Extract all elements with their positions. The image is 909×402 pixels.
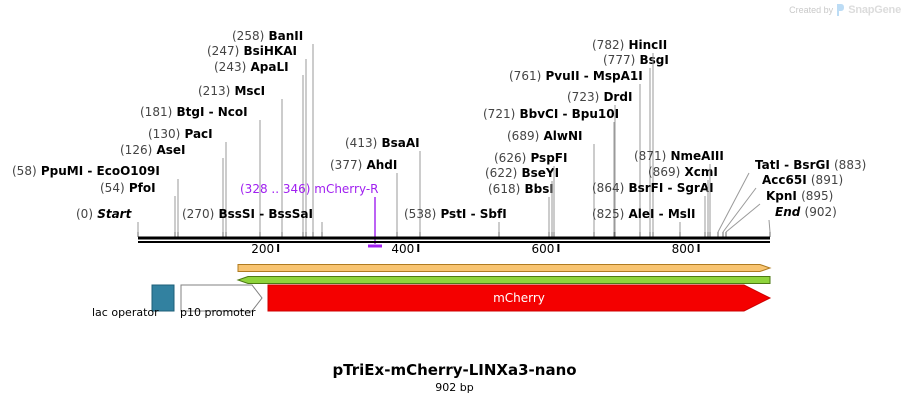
marker-name-bbsi: BbsI <box>524 182 553 196</box>
marker-position-bsrfi: (864) <box>592 181 624 195</box>
ruler-label-200: 200 <box>251 242 274 256</box>
marker-label-alei[interactable]: (825) AleI - MslI <box>592 207 696 221</box>
marker-name-bbvci: BbvCI <box>519 107 558 121</box>
marker-position-banii: (258) <box>232 29 264 43</box>
marker-label-ahdi[interactable]: (377) AhdI <box>330 158 397 172</box>
marker-name-alei: AleI <box>628 207 654 221</box>
marker-label-ppumi[interactable]: (58) PpuMI - EcoO109I <box>12 164 160 178</box>
marker-label-kpni[interactable]: KpnI (895) <box>766 189 833 203</box>
marker-label-end[interactable]: End (902) <box>775 205 837 219</box>
marker-label-bbsi[interactable]: (618) BbsI <box>488 182 554 196</box>
marker-label-bsihkai[interactable]: (247) BsiHKAI <box>207 44 297 58</box>
marker-label-msci[interactable]: (213) MscI <box>198 84 265 98</box>
marker-name-tati: BsrGI <box>793 158 830 172</box>
primer-name-mcherry-r: mCherry-R <box>314 182 378 196</box>
primer-label-mcherry-r[interactable]: (328 .. 346) mCherry-R <box>240 182 379 196</box>
ruler-label-800: 800 <box>672 242 695 256</box>
marker-position-bbsi: (618) <box>488 182 520 196</box>
marker-position-nmeaiii: (871) <box>634 149 666 163</box>
watermark-prefix: Created by <box>789 5 833 15</box>
marker-name-hincii: HincII <box>628 38 667 52</box>
feature-label-p10-promoter: p10 promoter <box>180 306 256 319</box>
marker-label-bsrfi[interactable]: (864) BsrFI - SgrAI <box>592 181 714 195</box>
marker-name-paci: PacI <box>184 127 212 141</box>
marker-label-bsaai[interactable]: (413) BsaAI <box>345 136 420 150</box>
marker-name-btgi: BtgI <box>176 105 204 119</box>
marker-name-psti: SbfI <box>480 207 507 221</box>
marker-label-acc65i[interactable]: Acc65I (891) <box>762 173 843 187</box>
snapgene-watermark: Created by SnapGene <box>789 4 901 16</box>
marker-label-nmeaiii[interactable]: (871) NmeAIII <box>634 149 724 163</box>
marker-name-kpni: KpnI <box>766 189 797 203</box>
marker-position-apali: (243) <box>214 60 246 74</box>
marker-position-pfoi: (54) <box>100 181 125 195</box>
marker-label-bseyi[interactable]: (622) BseYI <box>485 166 559 180</box>
plasmid-map: Created by SnapGene (0) Start(54) PfoI(5… <box>0 0 909 402</box>
marker-position-tati: (883) <box>834 158 866 172</box>
page-title: pTriEx-mCherry-LINXa3-nano <box>0 361 909 379</box>
marker-leader-line-acc65i <box>723 188 756 232</box>
marker-position-psti: (538) <box>404 207 436 221</box>
marker-name-pfoi: PfoI <box>129 181 156 195</box>
marker-position-bbvci: (721) <box>483 107 515 121</box>
marker-name-bsihkai: BsiHKAI <box>243 44 297 58</box>
feature-label-mcherry: mCherry <box>493 291 545 305</box>
marker-label-bsssi[interactable]: (270) BssSI - BssSaI <box>182 207 313 221</box>
marker-leader-line-end <box>769 220 770 232</box>
marker-label-hincii[interactable]: (782) HincII <box>592 38 667 52</box>
marker-position-acc65i: (891) <box>811 173 843 187</box>
marker-position-bsgi: (777) <box>603 53 635 67</box>
marker-label-pvuii[interactable]: (761) PvuII - MspA1I <box>509 69 643 83</box>
marker-label-paci[interactable]: (130) PacI <box>148 127 213 141</box>
marker-label-apali[interactable]: (243) ApaLI <box>214 60 289 74</box>
marker-label-banii[interactable]: (258) BanII <box>232 29 303 43</box>
marker-position-start: (0) <box>76 207 93 221</box>
marker-label-pfoi[interactable]: (54) PfoI <box>100 181 156 195</box>
marker-name-msci: MscI <box>234 84 265 98</box>
watermark-brand: SnapGene <box>848 4 901 16</box>
primer-range-mcherry-r: (328 .. 346) <box>240 182 314 196</box>
marker-label-asei[interactable]: (126) AseI <box>120 143 186 157</box>
marker-position-pvuii: (761) <box>509 69 541 83</box>
marker-label-psti[interactable]: (538) PstI - SbfI <box>404 207 507 221</box>
marker-name-pvuii: PvuII <box>545 69 579 83</box>
marker-position-kpni: (895) <box>801 189 833 203</box>
marker-name-tati: TatI <box>755 158 780 172</box>
marker-leader-line-tati <box>718 173 749 232</box>
marker-name-bseyi: BseYI <box>521 166 559 180</box>
marker-name-ppumi: EcoO109I <box>97 164 160 178</box>
marker-name-nmeaiii: NmeAIII <box>670 149 723 163</box>
marker-name-alwni: AlwNI <box>543 129 582 143</box>
feature-label-lac-operator: lac operator <box>92 306 159 319</box>
marker-label-tati[interactable]: TatI - BsrGI (883) <box>755 158 866 172</box>
marker-position-xcmi: (869) <box>648 165 680 179</box>
ruler-label-400: 400 <box>391 242 414 256</box>
marker-position-bsaai: (413) <box>345 136 377 150</box>
marker-label-drdi[interactable]: (723) DrdI <box>567 90 632 104</box>
marker-name-asei: AseI <box>156 143 185 157</box>
marker-position-bsssi: (270) <box>182 207 214 221</box>
marker-position-asei: (126) <box>120 143 152 157</box>
marker-position-pspfi: (626) <box>494 151 526 165</box>
marker-name-bsssi: BssSI <box>218 207 255 221</box>
marker-label-btgi[interactable]: (181) BtgI - NcoI <box>140 105 248 119</box>
marker-name-bsgi: BsgI <box>639 53 668 67</box>
marker-position-btgi: (181) <box>140 105 172 119</box>
marker-name-drdi: DrdI <box>603 90 632 104</box>
marker-label-bsgi[interactable]: (777) BsgI <box>603 53 669 67</box>
marker-name-psti: PstI <box>440 207 466 221</box>
map-canvas: (0) Start(54) PfoI(58) PpuMI - EcoO109I(… <box>0 0 909 402</box>
marker-name-end: End <box>775 205 801 219</box>
marker-name-pspfi: PspFI <box>530 151 567 165</box>
marker-name-pvuii: MspA1I <box>593 69 643 83</box>
marker-position-ppumi: (58) <box>12 164 37 178</box>
marker-position-alwni: (689) <box>507 129 539 143</box>
marker-label-xcmi[interactable]: (869) XcmI <box>648 165 718 179</box>
marker-name-bsssi: BssSaI <box>268 207 313 221</box>
marker-label-bbvci[interactable]: (721) BbvCI - Bpu10I <box>483 107 619 121</box>
marker-position-paci: (130) <box>148 127 180 141</box>
marker-name-alei: MslI <box>668 207 696 221</box>
marker-label-start[interactable]: (0) Start <box>76 207 133 221</box>
marker-name-apali: ApaLI <box>250 60 288 74</box>
marker-name-ahdi: AhdI <box>366 158 397 172</box>
marker-position-drdi: (723) <box>567 90 599 104</box>
snapgene-logo-icon <box>836 4 845 16</box>
ruler-label-600: 600 <box>531 242 554 256</box>
marker-name-acc65i: Acc65I <box>762 173 807 187</box>
marker-position-end: (902) <box>805 205 837 219</box>
marker-position-msci: (213) <box>198 84 230 98</box>
marker-label-alwni[interactable]: (689) AlwNI <box>507 129 582 143</box>
marker-label-pspfi[interactable]: (626) PspFI <box>494 151 567 165</box>
marker-position-alei: (825) <box>592 207 624 221</box>
marker-position-ahdi: (377) <box>330 158 362 172</box>
marker-name-ppumi: PpuMI <box>41 164 83 178</box>
marker-position-hincii: (782) <box>592 38 624 52</box>
feature-orf-orange[interactable] <box>238 265 770 272</box>
marker-name-banii: BanII <box>268 29 303 43</box>
sequence-length-label: 902 bp <box>0 381 909 394</box>
marker-name-bbvci: Bpu10I <box>572 107 619 121</box>
feature-orf-green[interactable] <box>238 277 770 284</box>
marker-leader-line-kpni <box>726 204 760 232</box>
marker-name-start: Start <box>97 207 132 221</box>
marker-name-xcmi: XcmI <box>684 165 717 179</box>
marker-name-btgi: NcoI <box>218 105 248 119</box>
marker-name-bsrfi: BsrFI <box>628 181 663 195</box>
marker-name-bsaai: BsaAI <box>381 136 419 150</box>
marker-position-bseyi: (622) <box>485 166 517 180</box>
marker-position-bsihkai: (247) <box>207 44 239 58</box>
